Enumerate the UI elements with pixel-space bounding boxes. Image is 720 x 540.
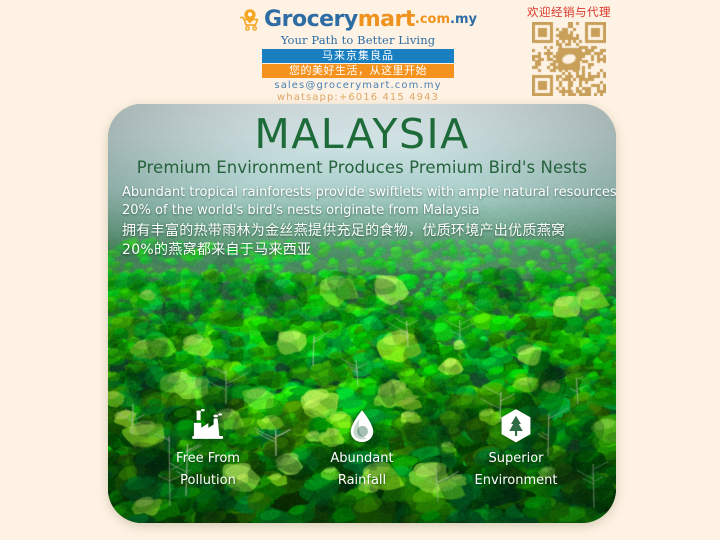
feature-label-line-1: Free From: [142, 451, 274, 467]
feature-superior-environment[interactable]: Superior Environment: [450, 403, 582, 489]
poster-subtitle: Premium Environment Produces Premium Bir…: [108, 158, 616, 178]
logo-word-grocery: Grocery: [264, 9, 358, 31]
logo-word-mart: mart: [358, 9, 415, 31]
brand-block: Grocery mart .com .my Your Path to Bette…: [262, 6, 454, 103]
features-row: Free From Pollution Abundant Rainfall: [108, 403, 616, 489]
shopping-cart-pin-icon: [239, 8, 261, 32]
contact-whatsapp[interactable]: whatsapp:+6016 415 4943: [262, 92, 454, 103]
poster-line-chinese-2: 20%的燕窝都来自于马来西亚: [108, 241, 616, 260]
logo-domain-com: .com: [415, 9, 450, 31]
poster-card[interactable]: MALAYSIA Premium Environment Produces Pr…: [108, 104, 616, 523]
poster-title: MALAYSIA: [108, 112, 616, 156]
brand-tagline: Your Path to Better Living: [262, 33, 454, 47]
feature-abundant-rainfall[interactable]: Abundant Rainfall: [296, 403, 428, 489]
factory-icon: [142, 403, 274, 445]
qr-code-icon[interactable]: [532, 22, 606, 96]
qr-block: 欢迎经销与代理: [519, 5, 619, 96]
water-drop-icon: [296, 403, 428, 445]
feature-label-line-2: Rainfall: [296, 473, 428, 489]
orange-banner-bar: 您的美好生活，从这里开始: [262, 64, 454, 78]
logo-domain-my: .my: [450, 9, 477, 31]
qr-caption: 欢迎经销与代理: [519, 5, 619, 19]
hexagon-tree-icon: [450, 403, 582, 445]
feature-label-line-1: Abundant: [296, 451, 428, 467]
poster-line-english-2: 20% of the world's bird's nests originat…: [108, 202, 616, 220]
contact-email[interactable]: sales@grocerymart.com.my: [262, 80, 454, 91]
feature-free-from-pollution[interactable]: Free From Pollution: [142, 403, 274, 489]
poster-line-chinese-1: 拥有丰富的热带雨林为金丝燕提供充足的食物，优质环境产出优质燕窝: [108, 222, 616, 241]
feature-label-line-1: Superior: [450, 451, 582, 467]
logo[interactable]: Grocery mart .com .my: [262, 6, 454, 34]
feature-label-line-2: Environment: [450, 473, 582, 489]
poster-line-english-1: Abundant tropical rainforests provide sw…: [108, 184, 616, 202]
blue-banner-bar: 马来京集良品: [262, 49, 454, 63]
poster-text-block: MALAYSIA Premium Environment Produces Pr…: [108, 104, 616, 260]
feature-label-line-2: Pollution: [142, 473, 274, 489]
header-banner: Grocery mart .com .my Your Path to Bette…: [0, 0, 720, 100]
